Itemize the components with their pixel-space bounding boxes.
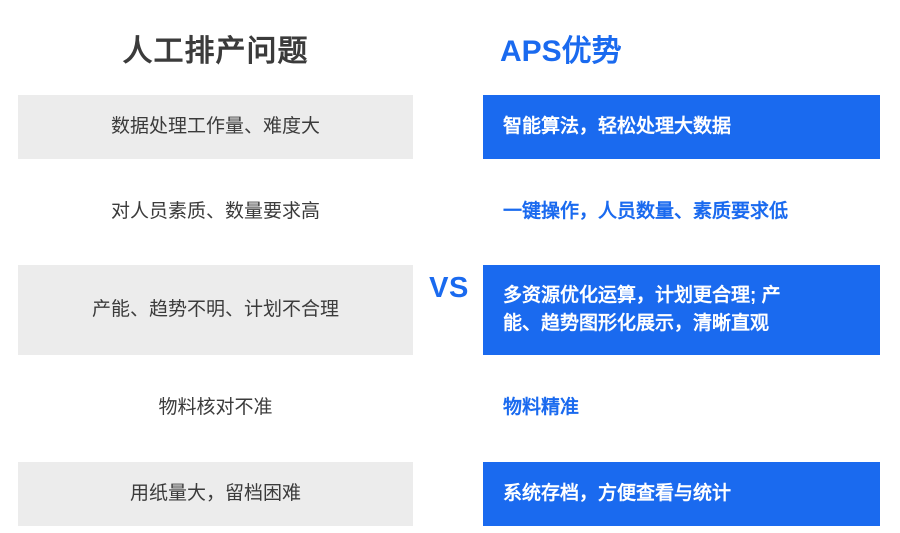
advantage-cell-3-line-2: 能、趋势图形化展示，清晰直观 [503, 310, 781, 338]
comparison-row-1: 数据处理工作量、难度大 智能算法，轻松处理大数据 [0, 95, 900, 159]
comparison-infographic: 人工排产问题 APS优势 数据处理工作量、难度大 智能算法，轻松处理大数据 对人… [0, 0, 900, 533]
row-gap-1 [0, 159, 900, 180]
advantage-cell-3-line-1: 多资源优化运算，计划更合理; 产 [503, 282, 781, 310]
advantage-cell-1: 智能算法，轻松处理大数据 [483, 95, 880, 159]
comparison-row-2: 对人员素质、数量要求高 一键操作，人员数量、素质要求低 [0, 180, 900, 244]
headings-row: 人工排产问题 APS优势 [0, 0, 900, 95]
problem-cell-4: 物料核对不准 [18, 376, 413, 440]
page-title-right: APS优势 [500, 26, 880, 70]
row-gap-4 [0, 440, 900, 462]
vs-divider-label: VS [420, 272, 478, 305]
comparison-row-5: 用纸量大，留档困难 系统存档，方便查看与统计 [0, 462, 900, 526]
problem-cell-3: 产能、趋势不明、计划不合理 [18, 265, 413, 355]
problem-cell-5: 用纸量大，留档困难 [18, 462, 413, 526]
advantage-cell-4: 物料精准 [483, 376, 880, 440]
comparison-row-4: 物料核对不准 物料精准 [0, 376, 900, 440]
advantage-cell-2: 一键操作，人员数量、素质要求低 [483, 180, 880, 244]
comparison-rows: 数据处理工作量、难度大 智能算法，轻松处理大数据 对人员素质、数量要求高 一键操… [0, 95, 900, 526]
page-title-left: 人工排产问题 [18, 26, 413, 70]
problem-cell-1: 数据处理工作量、难度大 [18, 95, 413, 159]
advantage-cell-3: 多资源优化运算，计划更合理; 产 能、趋势图形化展示，清晰直观 [483, 265, 880, 355]
row-gap-3 [0, 355, 900, 376]
problem-cell-2: 对人员素质、数量要求高 [18, 180, 413, 244]
advantage-cell-5: 系统存档，方便查看与统计 [483, 462, 880, 526]
row-gap-2 [0, 244, 900, 265]
